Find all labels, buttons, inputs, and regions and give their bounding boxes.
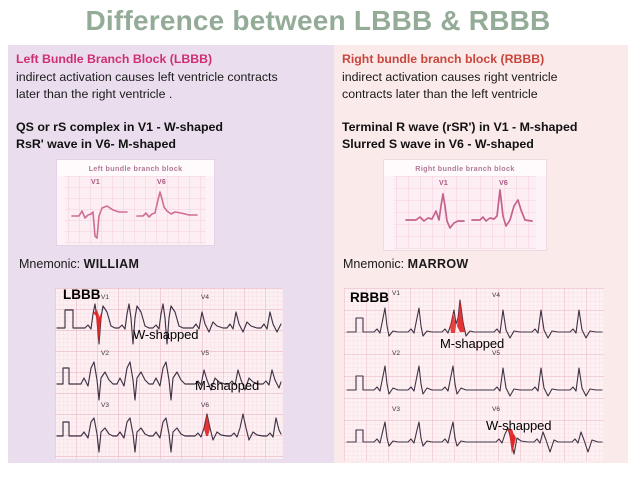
lbbb-lead-v2: V2 — [101, 350, 109, 357]
rbbb-lead-v1: V1 — [392, 290, 400, 297]
lbbb-ecg-card-title: Left bundle branch block — [57, 160, 214, 176]
lbbb-criteria-line1: QS or rS complex in V1 - W-shaped — [16, 120, 223, 134]
lbbb-criteria-line2: RsR' wave in V6- M-shaped — [16, 136, 326, 153]
lbbb-mnemonic: Mnemonic: WILLIAM — [19, 256, 139, 272]
lbbb-callout-w-shapped: W-shapped — [133, 327, 198, 342]
rbbb-description-line1: indirect activation causes right ventric… — [342, 70, 558, 84]
rbbb-panel: Right bundle branch block (RBBB) indirec… — [334, 45, 628, 463]
rbbb-criteria-line2: Slurred S wave in V6 - W-shaped — [342, 136, 620, 153]
lbbb-mnemonic-label: Mnemonic: — [19, 257, 80, 271]
rbbb-heading: Right bundle branch block (RBBB) — [342, 52, 620, 67]
lbbb-callout-m-shapped: M-shapped — [195, 378, 259, 393]
rbbb-card-lead-v1: V1 — [439, 180, 448, 187]
rbbb-description: indirect activation causes right ventric… — [342, 69, 620, 102]
lbbb-lead-v1: V1 — [101, 294, 109, 301]
rbbb-lead-v3: V3 — [392, 406, 400, 413]
comparison-columns: Left Bundle Branch Block (LBBB) indirect… — [8, 45, 628, 463]
rbbb-mnemonic-value: MARROW — [408, 257, 469, 271]
rbbb-lead-v2: V2 — [392, 350, 400, 357]
lbbb-ecg-card: Left bundle branch block V1 V6 — [57, 160, 214, 245]
rbbb-criteria: Terminal R wave (rSR') in V1 - M-shaped … — [342, 119, 620, 152]
lbbb-lead-v6: V6 — [201, 402, 209, 409]
rbbb-ecg-card-body: V1 V6 — [384, 176, 546, 249]
rbbb-callout-w-shapped: W-shapped — [486, 418, 551, 433]
lbbb-mnemonic-value: WILLIAM — [84, 257, 140, 271]
rbbb-ecg12-tag: RBBB — [350, 290, 389, 305]
lbbb-description-line1: indirect activation causes left ventricl… — [16, 70, 278, 84]
rbbb-ecg12-trace — [344, 288, 604, 461]
rbbb-mnemonic-label: Mnemonic: — [343, 257, 404, 271]
lbbb-description: indirect activation causes left ventricl… — [16, 69, 326, 102]
lbbb-panel: Left Bundle Branch Block (LBBB) indirect… — [8, 45, 334, 463]
rbbb-callout-m-shapped: M-shapped — [440, 336, 504, 351]
page-title: Difference between LBBB & RBBB — [0, 4, 636, 38]
rbbb-lead-v6: V6 — [492, 406, 500, 413]
rbbb-ecg-card: Right bundle branch block V1 V6 — [384, 160, 546, 250]
rbbb-ecg-card-title: Right bundle branch block — [384, 160, 546, 176]
rbbb-ecg12-strip: RBBB V1 V4 V2 V5 V3 V6 M-shapped W-shapp… — [344, 288, 604, 461]
lbbb-ecg-card-body: V1 V6 — [57, 176, 214, 244]
lbbb-card-lead-v1: V1 — [91, 179, 100, 186]
lbbb-description-line2: later than the right ventricle . — [16, 86, 326, 103]
rbbb-lead-v4: V4 — [492, 292, 500, 299]
rbbb-lead-v5: V5 — [492, 350, 500, 357]
rbbb-description-line2: contracts later than the left ventricle — [342, 86, 620, 103]
lbbb-lead-v3: V3 — [101, 402, 109, 409]
lbbb-card-lead-v6: V6 — [157, 179, 166, 186]
rbbb-card-ecg-trace — [384, 176, 546, 249]
rbbb-mnemonic: Mnemonic: MARROW — [343, 256, 468, 272]
lbbb-card-ecg-trace — [57, 176, 214, 244]
rbbb-criteria-line1: Terminal R wave (rSR') in V1 - M-shaped — [342, 120, 577, 134]
lbbb-ecg12-tag: LBBB — [63, 288, 101, 302]
lbbb-lead-v4: V4 — [201, 294, 209, 301]
lbbb-criteria: QS or rS complex in V1 - W-shaped RsR' w… — [16, 119, 326, 152]
lbbb-ecg12-strip: LBBB V1 V4 V2 V5 V3 V6 W-shapped M-shapp… — [55, 288, 283, 459]
lbbb-lead-v5: V5 — [201, 350, 209, 357]
lbbb-heading: Left Bundle Branch Block (LBBB) — [16, 52, 326, 67]
rbbb-card-lead-v6: V6 — [499, 180, 508, 187]
lbbb-ecg12-trace — [55, 288, 283, 459]
